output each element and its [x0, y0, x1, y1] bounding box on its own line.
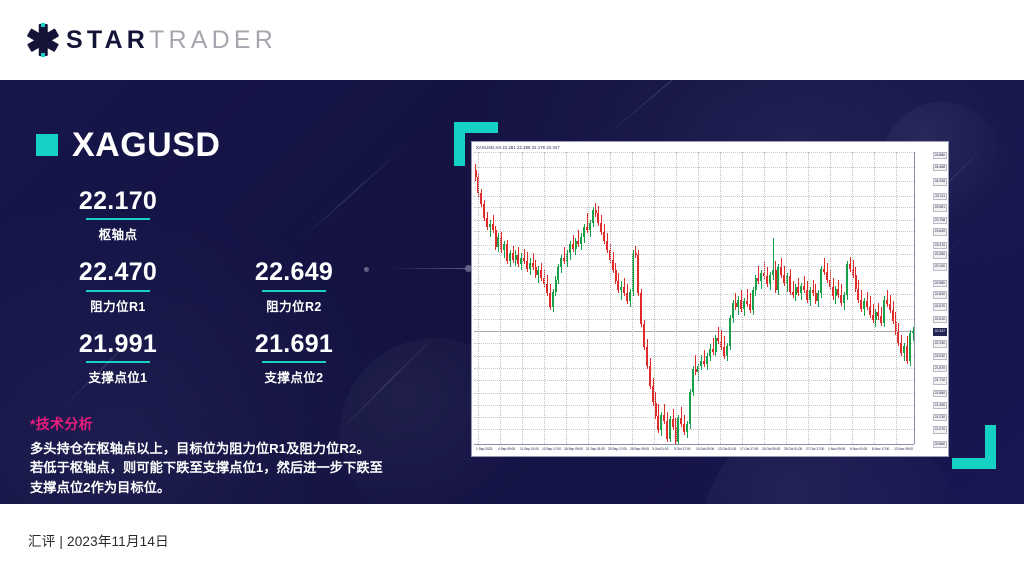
- y-axis-tick: 22.670: [933, 303, 947, 310]
- price-chart[interactable]: XAGUSD,H4 22.281 22.388 22.179 22.347 24…: [471, 141, 949, 457]
- candle-wick: [621, 281, 622, 299]
- y-axis-tick: 22.510: [933, 316, 947, 323]
- candle-body: [595, 210, 597, 213]
- candle-body: [672, 419, 674, 427]
- chart-gridline-v: [566, 152, 567, 444]
- resistance-row: 22.470 阻力位R1 22.649 阻力位R2: [30, 259, 430, 314]
- chart-gridline-h: [474, 393, 914, 394]
- y-axis-tick: 23.470: [933, 242, 947, 249]
- x-axis-tick: 20 Oct 09:00: [762, 447, 780, 451]
- candle-body: [703, 361, 705, 364]
- chart-gridline-v: [654, 152, 655, 444]
- candle-body: [737, 300, 739, 308]
- candle-wick: [704, 350, 705, 367]
- candle-wick: [695, 355, 696, 375]
- candle-wick: [793, 281, 794, 298]
- candle-body: [486, 218, 488, 227]
- candle-body: [843, 295, 845, 303]
- candle-body: [749, 304, 751, 310]
- candle-body: [766, 276, 768, 284]
- candle-wick: [824, 258, 825, 275]
- corner-bracket-top-left: [454, 122, 498, 166]
- chart-gridline-h: [474, 319, 914, 320]
- candle-body: [637, 255, 639, 293]
- candle-body: [649, 366, 651, 386]
- candle-body: [883, 300, 885, 323]
- x-axis-tick: 10 Oct 09:00: [696, 447, 714, 451]
- candle-body: [832, 287, 834, 296]
- y-axis-tick: 24.298: [933, 178, 947, 185]
- candle-body: [663, 415, 665, 421]
- candle-body: [757, 278, 759, 281]
- chart-gridline-h: [474, 294, 914, 295]
- s2-label: 支撑点位2: [206, 367, 382, 386]
- candle-body: [683, 424, 685, 432]
- chart-gridline-h: [474, 196, 914, 197]
- x-axis-tick: 6 Nov 01:00: [850, 447, 867, 451]
- candle-body: [892, 310, 894, 321]
- x-axis-tick: 28 Sep 09:00: [630, 447, 649, 451]
- candle-body: [660, 415, 662, 430]
- y-axis-tick: 20.880: [933, 441, 947, 448]
- candle-body: [732, 303, 734, 318]
- candle-body: [866, 301, 868, 307]
- chart-gridline-v: [522, 152, 523, 444]
- candle-body: [572, 244, 574, 249]
- candle-body: [752, 290, 754, 310]
- chart-gridline-v: [588, 152, 589, 444]
- candle-body: [826, 272, 828, 280]
- candle-body: [552, 292, 554, 307]
- candle-body: [903, 346, 905, 354]
- candle-body: [772, 270, 774, 275]
- candle-body: [597, 213, 599, 222]
- y-axis-tick: 23.649: [933, 228, 947, 235]
- candle-body: [669, 419, 671, 439]
- candle-body: [795, 287, 797, 295]
- chart-gridline-v: [764, 152, 765, 444]
- chart-gridline-v: [478, 152, 479, 444]
- x-axis-tick: 25 Sep 17:00: [608, 447, 627, 451]
- chart-gridline-h: [474, 220, 914, 221]
- candle-body: [880, 316, 882, 322]
- candle-body: [820, 269, 822, 294]
- square-bullet-icon: [36, 134, 58, 156]
- candle-body: [495, 230, 497, 247]
- s1-stat: 21.991 支撑点位1: [30, 331, 206, 386]
- candle-body: [483, 204, 485, 218]
- candle-body: [560, 258, 562, 267]
- candle-body: [600, 223, 602, 232]
- brand-name-light: TRADER: [149, 26, 277, 54]
- chart-gridline-h: [474, 245, 914, 246]
- candle-body: [900, 343, 902, 354]
- technical-analysis-body: 多头持仓在枢轴点以上，目标位为阻力位R1及阻力位R2。 若低于枢轴点，则可能下跌…: [30, 439, 400, 498]
- analysis-line-2: 若低于枢轴点，则可能下跌至支撑点位1，然后进一步下跌至: [30, 458, 400, 478]
- chart-gridline-h: [474, 417, 914, 418]
- r2-value: 22.649: [206, 259, 382, 285]
- chart-gridline-v: [808, 152, 809, 444]
- x-axis-tick: 13 Sep 17:00: [542, 447, 561, 451]
- candle-body: [886, 300, 888, 305]
- candle-body: [709, 349, 711, 357]
- candle-wick: [524, 249, 525, 264]
- candle-body: [512, 253, 514, 259]
- candle-body: [889, 304, 891, 310]
- candle-body: [817, 293, 819, 301]
- stat-divider: [86, 218, 150, 220]
- chart-gridline-h: [474, 405, 914, 406]
- candle-body: [626, 293, 628, 301]
- r1-value: 22.470: [30, 259, 206, 285]
- stat-divider: [86, 361, 150, 363]
- candle-body: [689, 392, 691, 424]
- current-price-label: 22.347: [933, 328, 947, 335]
- chart-gridline-v: [720, 152, 721, 444]
- candle-body: [800, 286, 802, 294]
- candle-body: [735, 303, 737, 308]
- candle-body: [569, 244, 571, 253]
- candle-body: [503, 244, 505, 250]
- candle-body: [657, 416, 659, 430]
- candle-body: [529, 263, 531, 269]
- candle-body: [603, 232, 605, 241]
- chart-gridline-v: [544, 152, 545, 444]
- candle-body: [775, 270, 777, 290]
- chart-gridline-h: [474, 152, 914, 153]
- candle-body: [809, 290, 811, 299]
- chart-price-axis: 24.68024.48824.29824.11123.96123.79823.6…: [914, 152, 948, 444]
- pivot-label: 枢轴点: [30, 224, 206, 243]
- candle-body: [715, 338, 717, 352]
- candle-body: [849, 264, 851, 269]
- pivot-value: 22.170: [30, 188, 206, 214]
- stat-divider: [262, 290, 326, 292]
- candle-body: [575, 241, 577, 249]
- brand-name-bold: STAR: [66, 26, 149, 54]
- decor-streak-3: [600, 80, 731, 141]
- y-axis-tick: 22.830: [933, 291, 947, 298]
- candle-body: [840, 295, 842, 303]
- candle-body: [540, 270, 542, 278]
- candle-body: [846, 264, 848, 295]
- candle-body: [475, 170, 477, 177]
- chart-gridline-v: [896, 152, 897, 444]
- candle-body: [792, 292, 794, 295]
- candle-wick: [813, 280, 814, 297]
- candle-body: [723, 347, 725, 356]
- stat-divider: [262, 361, 326, 363]
- y-axis-tick: 24.680: [933, 152, 947, 159]
- chart-gridline-h: [474, 167, 914, 168]
- s1-label: 支撑点位1: [30, 367, 206, 386]
- corner-bracket-bottom-right: [952, 425, 996, 469]
- candle-body: [860, 300, 862, 309]
- x-axis-tick: 25 Oct 01:00: [784, 447, 802, 451]
- candle-body: [835, 289, 837, 297]
- candle-body: [489, 224, 491, 227]
- candle-body: [692, 369, 694, 392]
- candle-body: [769, 275, 771, 284]
- candle-body: [506, 244, 508, 261]
- chart-gridline-h: [474, 254, 914, 255]
- y-axis-tick: 24.111: [933, 193, 947, 200]
- s2-stat: 21.691 支撑点位2: [206, 331, 382, 386]
- x-axis-tick: 11 Sep 01:00: [520, 447, 539, 451]
- candle-body: [623, 287, 625, 293]
- candle-body: [640, 293, 642, 324]
- candle-body: [706, 356, 708, 364]
- y-axis-tick: 21.550: [933, 390, 947, 397]
- r2-stat: 22.649 阻力位R2: [206, 259, 382, 314]
- candle-body: [537, 270, 539, 275]
- y-axis-tick: 21.870: [933, 365, 947, 372]
- candle-body: [612, 260, 614, 271]
- candle-body: [777, 267, 779, 290]
- candle-body: [803, 286, 805, 291]
- candle-body: [797, 287, 799, 293]
- instrument-title-row: XAGUSD: [36, 128, 430, 162]
- candle-body: [815, 293, 817, 301]
- y-axis-tick: 21.710: [933, 377, 947, 384]
- candle-body: [577, 241, 579, 244]
- chart-time-axis: 1 Sep 20234 Sep 09:0011 Sep 01:0013 Sep …: [474, 444, 914, 456]
- candle-body: [517, 255, 519, 264]
- candle-body: [837, 289, 839, 295]
- candle-body: [869, 307, 871, 315]
- candle-body: [783, 275, 785, 283]
- x-axis-tick: 21 Sep 01:00: [586, 447, 605, 451]
- candle-body: [563, 258, 565, 261]
- candle-body: [680, 418, 682, 424]
- candle-body: [812, 290, 814, 293]
- y-axis-tick: 23.961: [933, 204, 947, 211]
- candle-body: [580, 237, 582, 245]
- y-axis-tick: 22.190: [933, 340, 947, 347]
- candle-body: [589, 223, 591, 231]
- candle-body: [677, 418, 679, 443]
- chart-gridline-v: [676, 152, 677, 444]
- candle-body: [583, 227, 585, 236]
- candle-wick: [564, 247, 565, 264]
- chart-gridline-h: [474, 429, 914, 430]
- candle-body: [549, 293, 551, 307]
- x-axis-tick: 13 Oct 01:00: [718, 447, 736, 451]
- candle-body: [592, 210, 594, 222]
- candle-body: [523, 258, 525, 261]
- brand-logo: STARTRADER: [26, 23, 277, 57]
- candle-body: [823, 269, 825, 272]
- s2-value: 21.691: [206, 331, 382, 357]
- candle-body: [666, 421, 668, 439]
- candle-body: [743, 301, 745, 309]
- x-axis-tick: 1 Sep 2023: [476, 447, 492, 451]
- candle-body: [855, 275, 857, 289]
- candle-body: [726, 346, 728, 357]
- asterisk-star-icon: [26, 23, 60, 57]
- candle-body: [480, 193, 482, 204]
- chart-plot-area[interactable]: [474, 152, 914, 444]
- chart-gridline-v: [874, 152, 875, 444]
- y-axis-tick: 23.190: [933, 263, 947, 270]
- candle-body: [755, 278, 757, 290]
- candle-wick: [758, 266, 759, 284]
- x-axis-tick: 3 Oct 01:00: [652, 447, 668, 451]
- candle-body: [606, 241, 608, 250]
- x-axis-tick: 5 Oct 17:00: [674, 447, 690, 451]
- technical-analysis: *技术分析 多头持仓在枢轴点以上，目标位为阻力位R1及阻力位R2。 若低于枢轴点…: [30, 414, 400, 498]
- candle-body: [535, 267, 537, 275]
- chart-gridline-v: [742, 152, 743, 444]
- candle-body: [492, 224, 494, 230]
- candle-body: [557, 267, 559, 279]
- y-axis-tick: 23.798: [933, 217, 947, 224]
- candle-body: [643, 324, 645, 347]
- candle-body: [857, 289, 859, 300]
- left-content: XAGUSD 22.170 枢轴点 22.470 阻力位R1 22.649 阻力…: [0, 80, 430, 504]
- chart-gridline-h: [474, 306, 914, 307]
- chart-gridline-v: [786, 152, 787, 444]
- candle-body: [509, 253, 511, 261]
- candle-body: [789, 276, 791, 291]
- r1-stat: 22.470 阻力位R1: [30, 259, 206, 314]
- s1-value: 21.991: [30, 331, 206, 357]
- candle-body: [546, 284, 548, 293]
- candle-body: [909, 333, 911, 361]
- r2-label: 阻力位R2: [206, 296, 382, 315]
- candle-body: [617, 281, 619, 290]
- candle-body: [906, 346, 908, 361]
- candle-body: [729, 318, 731, 346]
- analysis-line-1: 多头持仓在枢轴点以上，目标位为阻力位R1及阻力位R2。: [30, 439, 400, 459]
- x-axis-tick: 4 Sep 09:00: [498, 447, 515, 451]
- candle-wick: [635, 246, 636, 258]
- candle-body: [532, 263, 534, 268]
- chart-gridline-v: [852, 152, 853, 444]
- candle-body: [897, 332, 899, 343]
- r1-label: 阻力位R1: [30, 296, 206, 315]
- chart-gridline-h: [474, 356, 914, 357]
- chart-gridline-h: [474, 283, 914, 284]
- chart-gridline-h: [474, 207, 914, 208]
- y-axis-tick: 21.390: [933, 402, 947, 409]
- candle-body: [635, 253, 637, 255]
- y-axis-tick: 22.030: [933, 353, 947, 360]
- candle-body: [555, 280, 557, 292]
- x-axis-tick: 8 Nov 17:00: [872, 447, 889, 451]
- pivot-stat: 22.170 枢轴点: [30, 188, 206, 243]
- y-axis-tick: 23.350: [933, 251, 947, 258]
- candle-body: [526, 261, 528, 269]
- brand-name: STARTRADER: [66, 28, 277, 53]
- candle-wick: [713, 338, 714, 355]
- technical-analysis-heading: *技术分析: [30, 414, 400, 434]
- chart-gridline-v: [632, 152, 633, 444]
- candle-body: [863, 301, 865, 309]
- x-axis-tick: 17 Oct 17:00: [740, 447, 758, 451]
- candle-wick: [747, 289, 748, 307]
- candle-body: [695, 369, 697, 372]
- x-axis-tick: 18 Sep 09:00: [564, 447, 583, 451]
- candle-body: [646, 347, 648, 365]
- candle-body: [686, 424, 688, 432]
- x-axis-tick: 1 Nov 09:00: [828, 447, 845, 451]
- support-row: 21.991 支撑点位1 21.691 支撑点位2: [30, 331, 430, 386]
- candle-body: [746, 301, 748, 304]
- candle-body: [877, 312, 879, 317]
- candle-body: [515, 255, 517, 260]
- chart-gridline-v: [830, 152, 831, 444]
- candle-wick: [578, 230, 579, 247]
- page-footer: 汇评 | 2023年11月14日: [0, 504, 1024, 576]
- x-axis-tick: 27 Oct 17:00: [806, 447, 824, 451]
- page-title: XAGUSD: [72, 128, 220, 162]
- y-axis-tick: 21.230: [933, 414, 947, 421]
- chart-gridline-h: [474, 231, 914, 232]
- analysis-line-3: 支撑点位2作为目标位。: [30, 478, 400, 498]
- y-axis-tick: 22.980: [933, 280, 947, 287]
- main-panel: XAGUSD 22.170 枢轴点 22.470 阻力位R1 22.649 阻力…: [0, 80, 1024, 504]
- footer-text: 汇评 | 2023年11月14日: [28, 530, 169, 550]
- candle-body: [620, 287, 622, 290]
- chart-gridline-v: [698, 152, 699, 444]
- chart-gridline-h: [474, 380, 914, 381]
- chart-gridline-h: [474, 181, 914, 182]
- y-axis-tick: 24.488: [933, 164, 947, 171]
- x-axis-tick: 13 Nov 09:00: [894, 447, 913, 451]
- page-header: STARTRADER: [0, 0, 1024, 80]
- stat-divider: [86, 290, 150, 292]
- current-price-line: [474, 331, 914, 332]
- candle-body: [615, 270, 617, 281]
- candle-body: [712, 349, 714, 352]
- chart-gridline-h: [474, 343, 914, 344]
- candle-body: [629, 292, 631, 301]
- candle-body: [780, 267, 782, 275]
- chart-gridline-v: [500, 152, 501, 444]
- y-axis-tick: 21.070: [933, 426, 947, 433]
- candle-body: [760, 273, 762, 281]
- candle-wick: [490, 220, 491, 237]
- chart-gridline-v: [610, 152, 611, 444]
- candle-body: [700, 361, 702, 366]
